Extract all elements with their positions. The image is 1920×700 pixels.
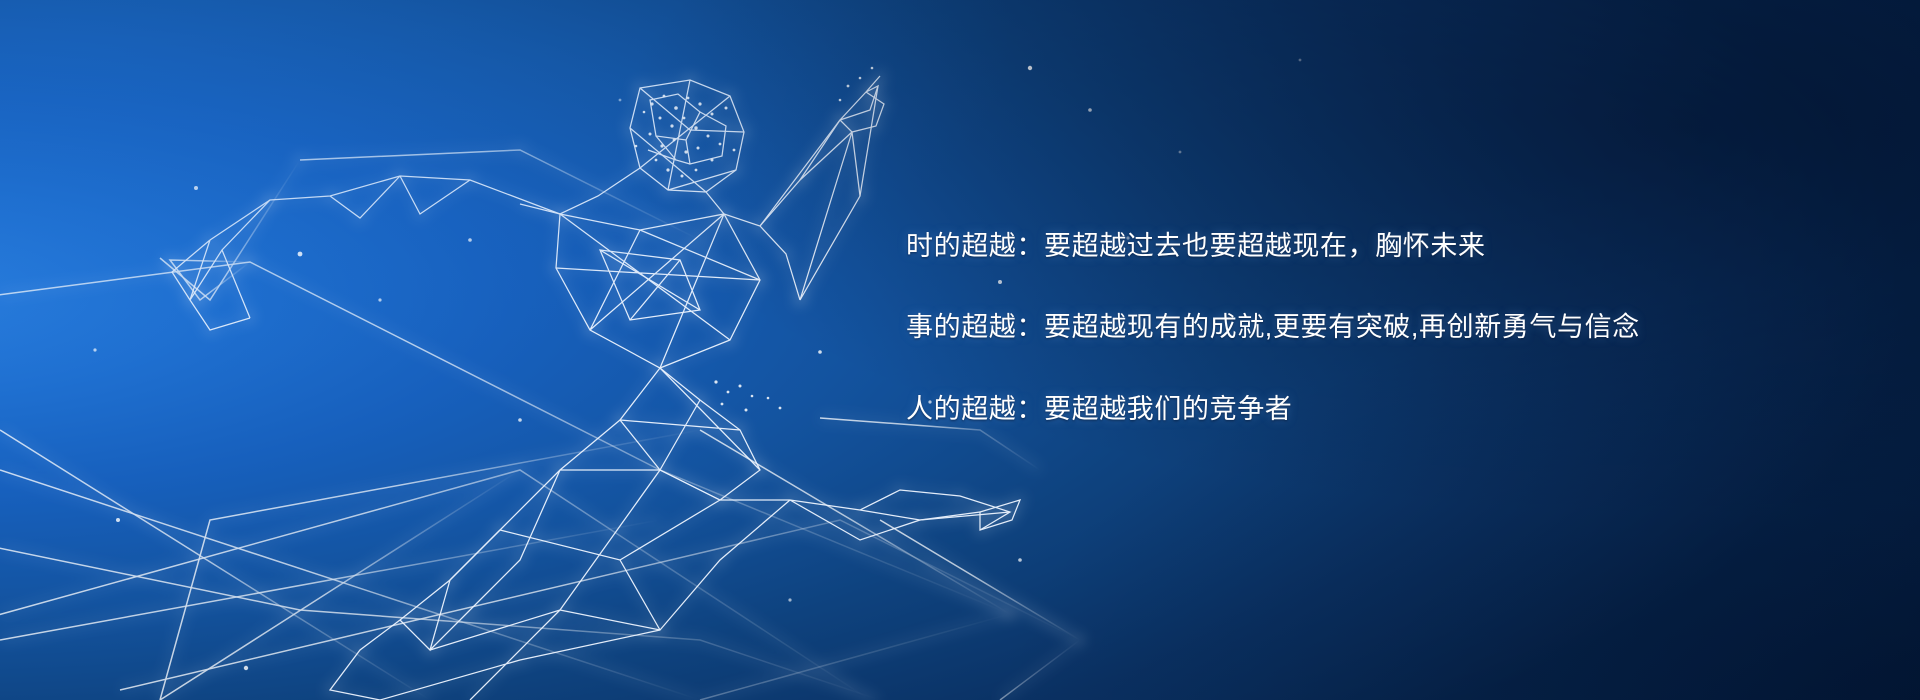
vision-line-matter: 事的超越：要超越现有的成就,更要有突破,再创新勇气与信念	[906, 313, 1806, 341]
vision-line-people: 人的超越：要超越我们的竞争者	[906, 395, 1806, 423]
banner-stage: 时的超越：要超越过去也要超越现在，胸怀未来 事的超越：要超越现有的成就,更要有突…	[0, 0, 1920, 700]
vision-statement-list: 时的超越：要超越过去也要超越现在，胸怀未来 事的超越：要超越现有的成就,更要有突…	[906, 232, 1806, 423]
vision-line-time: 时的超越：要超越过去也要超越现在，胸怀未来	[906, 232, 1806, 260]
